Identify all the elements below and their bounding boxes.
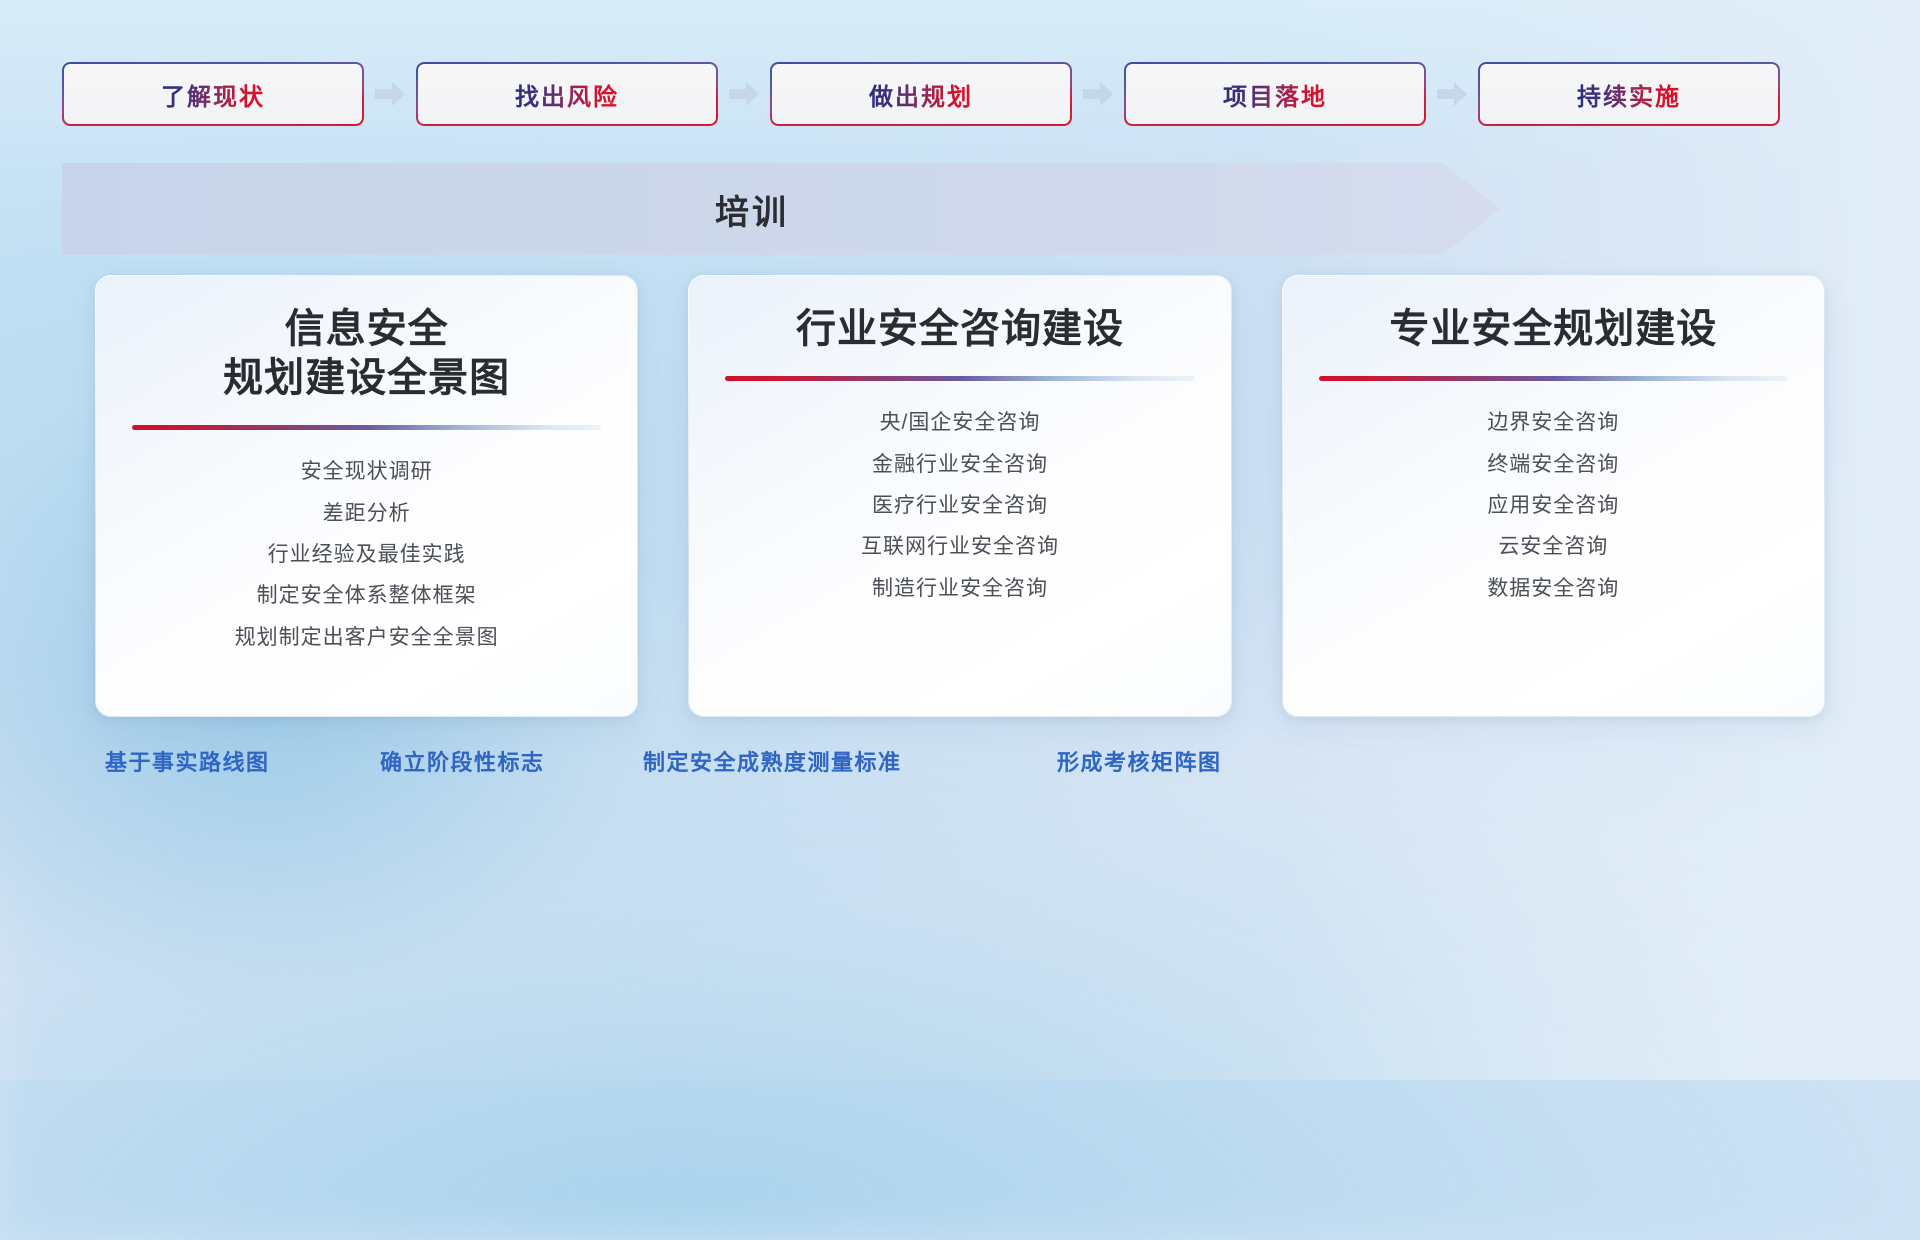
chevron-right-arrow-icon <box>1437 81 1467 107</box>
card-title: 行业安全咨询建设 <box>796 305 1124 354</box>
card-item: 互联网行业安全咨询 <box>861 533 1059 561</box>
card-item: 边界安全咨询 <box>1487 409 1619 437</box>
card-item: 终端安全咨询 <box>1487 451 1619 479</box>
card-item-list: 央/国企安全咨询金融行业安全咨询医疗行业安全咨询互联网行业安全咨询制造行业安全咨… <box>861 409 1059 603</box>
card-title-line: 信息安全 <box>223 305 510 354</box>
card-item: 云安全咨询 <box>1498 533 1608 561</box>
caption-3: 制定安全成熟度测量标准 <box>643 745 902 777</box>
process-step-row: 了解现状找出风险做出规划项目落地持续实施 <box>62 62 1858 126</box>
process-step-box-4[interactable]: 项目落地 <box>1124 62 1426 126</box>
card-divider <box>132 425 601 430</box>
card-item: 制造行业安全咨询 <box>872 575 1048 603</box>
card-item: 行业经验及最佳实践 <box>268 541 466 569</box>
service-card-1[interactable]: 信息安全规划建设全景图安全现状调研差距分析行业经验及最佳实践制定安全体系整体框架… <box>95 275 638 717</box>
chevron-right-arrow-icon <box>729 81 759 107</box>
process-arrow-4 <box>1426 81 1478 107</box>
card-title: 信息安全规划建设全景图 <box>223 305 510 403</box>
training-banner: 培训 <box>62 163 1500 255</box>
process-step-label: 项目落地 <box>1223 77 1327 112</box>
service-card-2[interactable]: 行业安全咨询建设央/国企安全咨询金融行业安全咨询医疗行业安全咨询互联网行业安全咨… <box>688 275 1231 717</box>
card-item-list: 边界安全咨询终端安全咨询应用安全咨询云安全咨询数据安全咨询 <box>1487 409 1619 603</box>
process-arrow-3 <box>1072 81 1124 107</box>
card-item: 应用安全咨询 <box>1487 492 1619 520</box>
card-divider <box>725 376 1194 381</box>
training-banner-label: 培训 <box>62 163 1442 255</box>
caption-row: 基于事实路线图确立阶段性标志制定安全成熟度测量标准形成考核矩阵图 <box>0 745 1920 791</box>
process-step-label: 做出规划 <box>869 77 973 112</box>
card-item: 央/国企安全咨询 <box>880 409 1041 437</box>
process-step-label: 了解现状 <box>161 77 265 112</box>
chevron-right-arrow-icon <box>1083 81 1113 107</box>
process-step-label: 持续实施 <box>1577 77 1681 112</box>
process-step-box-3[interactable]: 做出规划 <box>770 62 1072 126</box>
card-title-line: 规划建设全景图 <box>223 354 510 403</box>
card-item: 金融行业安全咨询 <box>872 451 1048 479</box>
cards-row: 信息安全规划建设全景图安全现状调研差距分析行业经验及最佳实践制定安全体系整体框架… <box>95 275 1825 717</box>
process-step-box-1[interactable]: 了解现状 <box>62 62 364 126</box>
card-title-line: 专业安全规划建设 <box>1389 305 1717 354</box>
card-item-list: 安全现状调研差距分析行业经验及最佳实践制定安全体系整体框架规划制定出客户安全全景… <box>235 458 499 652</box>
process-arrow-1 <box>364 81 416 107</box>
process-step-box-5[interactable]: 持续实施 <box>1478 62 1780 126</box>
card-item: 差距分析 <box>323 500 411 528</box>
card-item: 安全现状调研 <box>301 458 433 486</box>
caption-4: 形成考核矩阵图 <box>1057 745 1222 777</box>
card-divider <box>1319 376 1788 381</box>
caption-2: 确立阶段性标志 <box>380 745 545 777</box>
service-card-3[interactable]: 专业安全规划建设边界安全咨询终端安全咨询应用安全咨询云安全咨询数据安全咨询 <box>1282 275 1825 717</box>
process-arrow-2 <box>718 81 770 107</box>
caption-1: 基于事实路线图 <box>105 745 270 777</box>
card-item: 制定安全体系整体框架 <box>257 582 477 610</box>
card-item: 医疗行业安全咨询 <box>872 492 1048 520</box>
card-title-line: 行业安全咨询建设 <box>796 305 1124 354</box>
process-step-label: 找出风险 <box>515 77 619 112</box>
chevron-right-arrow-icon <box>375 81 405 107</box>
card-item: 数据安全咨询 <box>1487 575 1619 603</box>
card-title: 专业安全规划建设 <box>1389 305 1717 354</box>
card-item: 规划制定出客户安全全景图 <box>235 624 499 652</box>
process-step-box-2[interactable]: 找出风险 <box>416 62 718 126</box>
